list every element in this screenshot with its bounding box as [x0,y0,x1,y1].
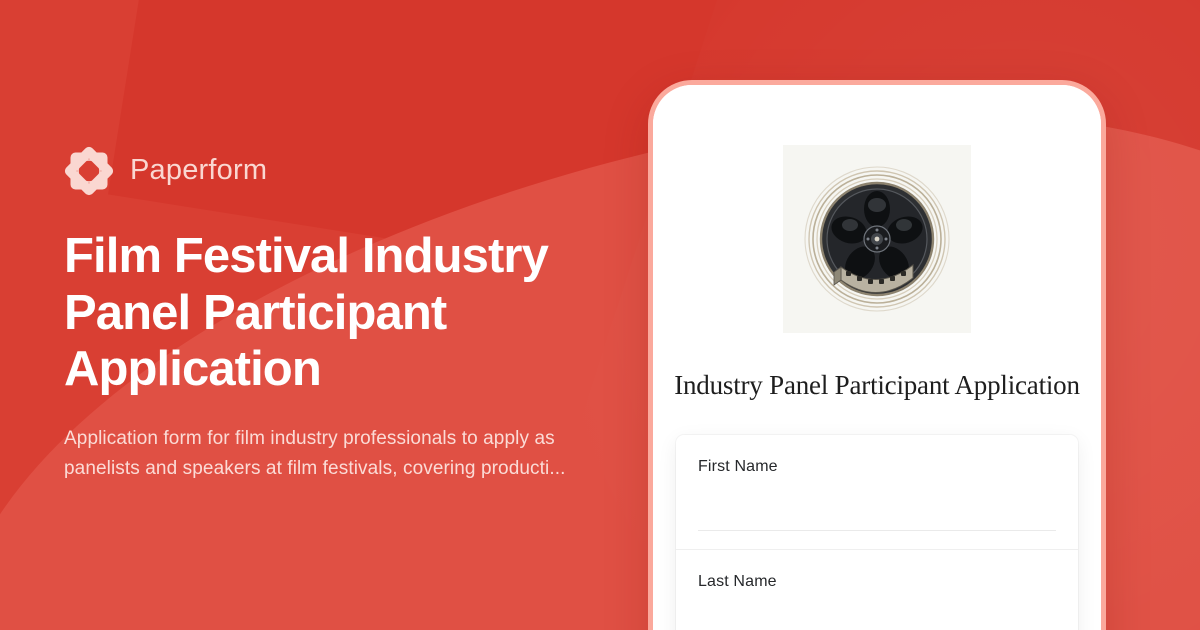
brand-lockup: Paperform [64,146,624,196]
form-heading: Industry Panel Participant Application [674,369,1080,401]
phone-mockup: Industry Panel Participant Application F… [648,80,1106,630]
last-name-label: Last Name [698,572,1056,591]
page-title: Film Festival Industry Panel Participant… [64,228,604,398]
form-card: First Name Last Name [676,435,1078,630]
form-field-first-name[interactable]: First Name [676,435,1078,549]
first-name-input[interactable] [698,530,1056,531]
left-content-panel: Paperform Film Festival Industry Panel P… [64,0,624,630]
og-preview-card: Paperform Film Festival Industry Panel P… [0,0,1200,630]
phone-screen: Industry Panel Participant Application F… [653,85,1101,630]
paperform-logo-icon [64,146,114,196]
page-description: Application form for film industry profe… [64,424,574,484]
brand-name: Paperform [130,156,267,185]
form-field-last-name[interactable]: Last Name [676,549,1078,630]
film-reel-illustration [783,145,971,333]
first-name-label: First Name [698,457,1056,476]
